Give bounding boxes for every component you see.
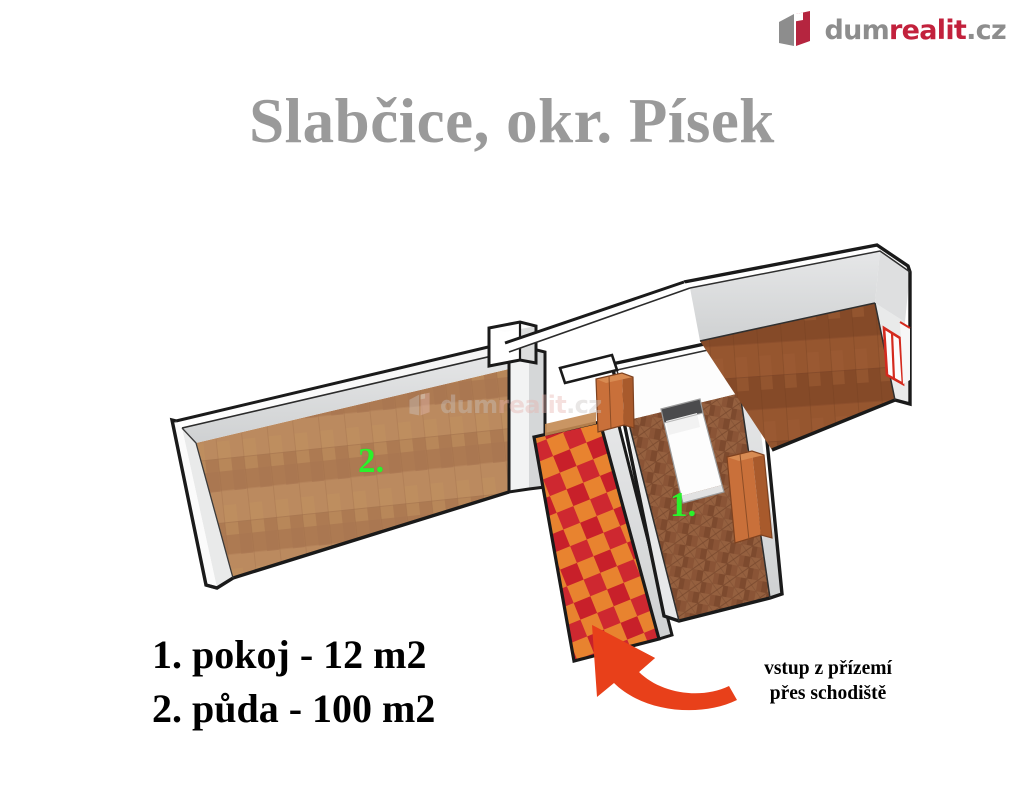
entrance-note-line-1: vstup z přízemí bbox=[733, 656, 923, 681]
room-label-1: 1. bbox=[670, 487, 696, 522]
floorplan-page: dumrealit.cz Slabčice, okr. Písek bbox=[0, 0, 1024, 792]
room-attic bbox=[172, 343, 509, 588]
wardrobe-right bbox=[727, 451, 772, 543]
wardrobe-left bbox=[596, 373, 634, 432]
room-label-2: 2. bbox=[358, 443, 384, 478]
legend-line-1: 1. pokoj - 12 m2 bbox=[152, 628, 435, 682]
entrance-note: vstup z přízemí přes schodiště bbox=[733, 656, 923, 707]
entrance-note-line-2: přes schodiště bbox=[733, 681, 923, 706]
legend: 1. pokoj - 12 m2 2. půda - 100 m2 bbox=[152, 628, 435, 735]
wall-top-connector bbox=[505, 282, 690, 352]
legend-line-2: 2. půda - 100 m2 bbox=[152, 682, 435, 736]
